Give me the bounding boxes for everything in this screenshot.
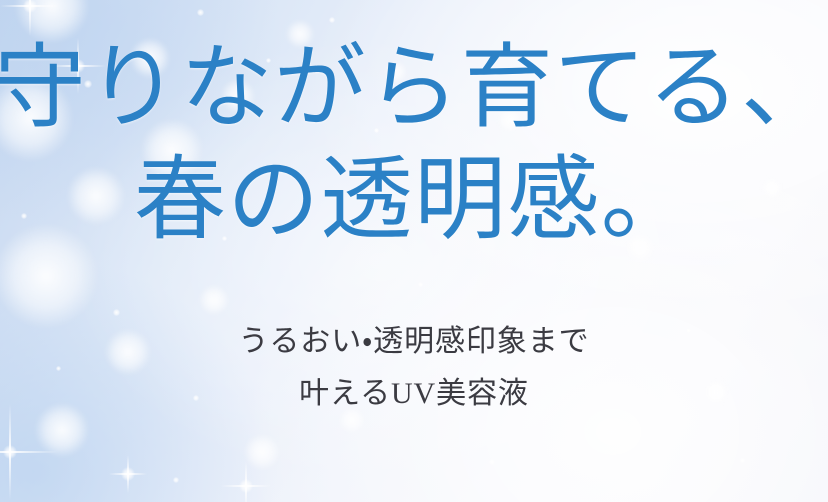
headline-line-1-text: 守りながら育てる、 — [0, 42, 828, 136]
headline-line-1: 守りながら育てる、 — [0, 42, 828, 136]
headline-line-2: 春の透明感。 — [134, 154, 694, 248]
subcopy-line-1-text: うるおい・透明感印象まで — [239, 318, 590, 367]
headline-line-2-text: 春の透明感。 — [134, 154, 694, 248]
banner-content: 守りながら育てる、 春の透明感。 うるおい・透明感印象まで 叶えるUV美容液 — [0, 0, 828, 502]
subcopy-line-2: 叶えるUV美容液 — [299, 370, 529, 419]
subcopy-line-1: うるおい・透明感印象まで — [239, 318, 590, 367]
subcopy-line-2-text: 叶えるUV美容液 — [299, 370, 529, 419]
hero-banner: 守りながら育てる、 春の透明感。 うるおい・透明感印象まで 叶えるUV美容液 — [0, 0, 828, 502]
